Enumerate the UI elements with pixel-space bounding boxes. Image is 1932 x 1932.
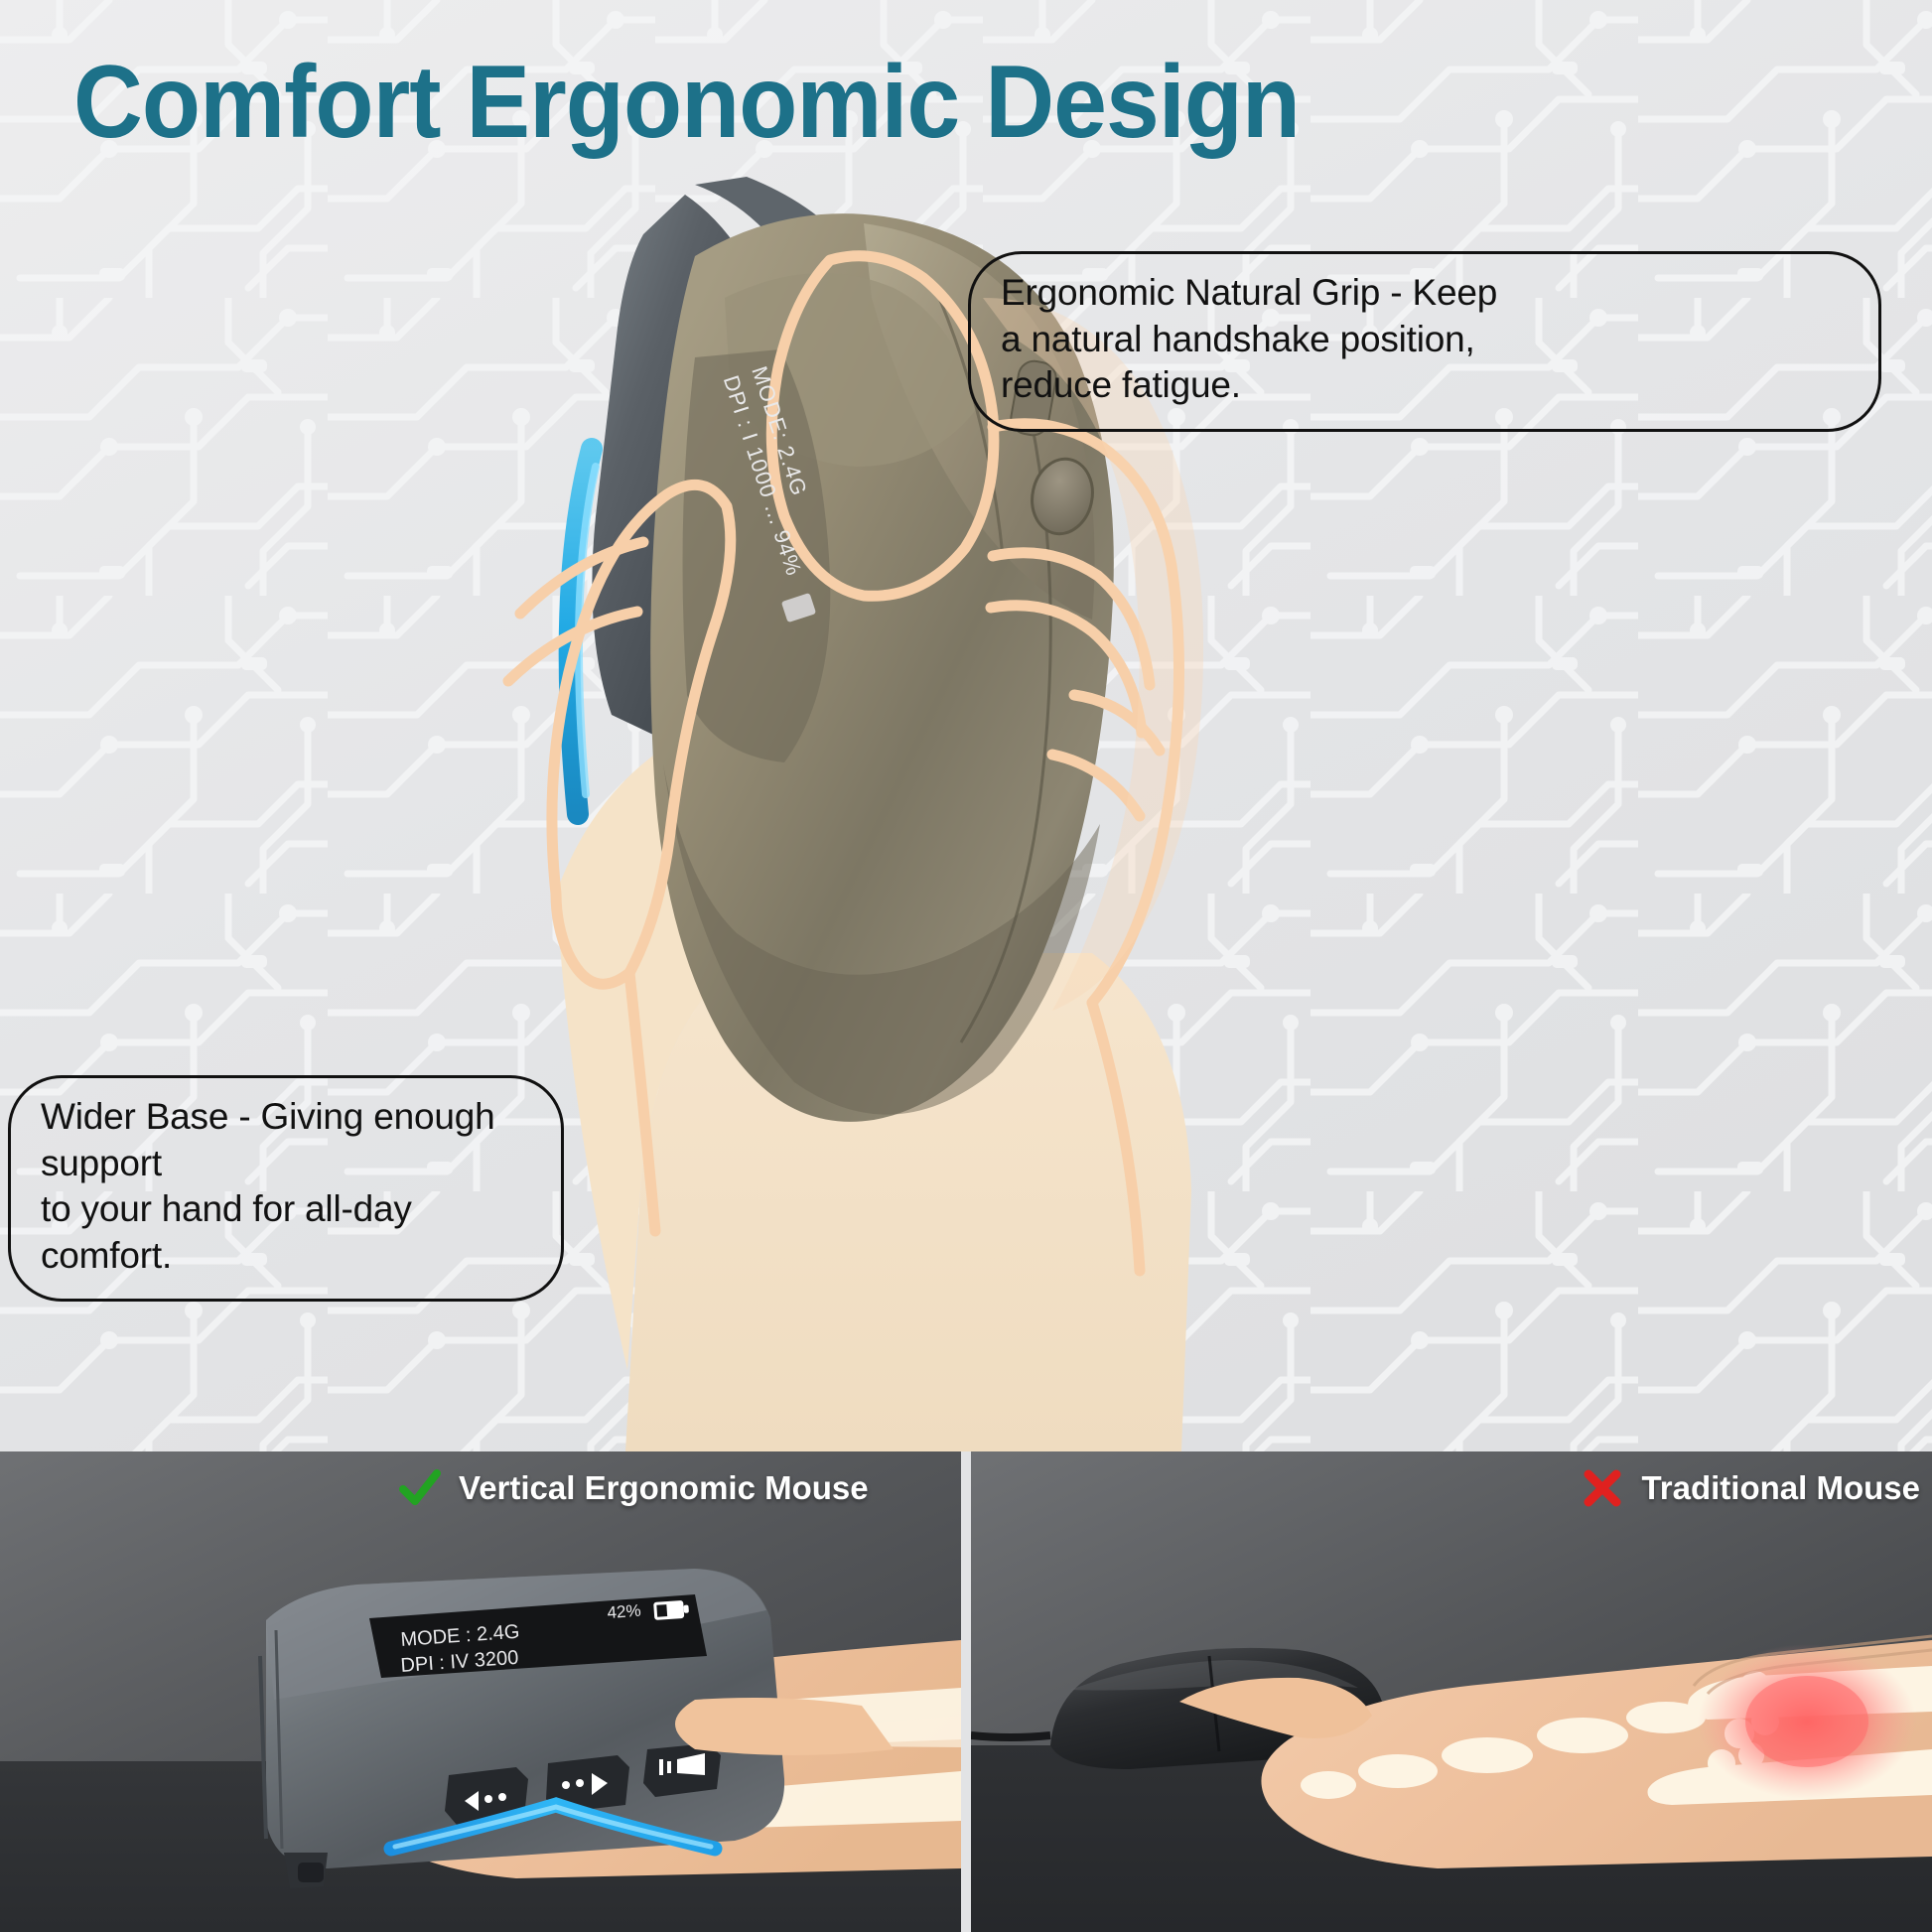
comparison-row: MODE : 2.4G DPI : IV 3200 42% (0, 1451, 1932, 1932)
callout-line: to your hand for all-day comfort. (41, 1186, 531, 1279)
product-infographic: MODE: 2.4G DPI : I 1000 ... 94% Comfort … (0, 0, 1932, 1932)
label-vertical-ergonomic-mouse: Vertical Ergonomic Mouse (397, 1465, 869, 1511)
hero-panel: MODE: 2.4G DPI : I 1000 ... 94% Comfort … (0, 0, 1932, 1451)
callout-line: reduce fatigue. (1001, 362, 1849, 409)
page-title: Comfort Ergonomic Design (73, 44, 1300, 162)
panel-vertical-ergonomic-mouse: MODE : 2.4G DPI : IV 3200 42% (0, 1451, 961, 1932)
label-traditional-mouse: Traditional Mouse (1580, 1465, 1920, 1511)
callout-line: Ergonomic Natural Grip - Keep (1001, 270, 1849, 317)
callout-wider-base: Wider Base - Giving enough support to yo… (8, 1075, 564, 1302)
traditional-mouse-photo (971, 1451, 1932, 1932)
check-mark-icon (397, 1465, 443, 1511)
panel-label-text: Vertical Ergonomic Mouse (459, 1469, 869, 1507)
callout-line: Wider Base - Giving enough support (41, 1094, 531, 1186)
panel-traditional-mouse: Traditional Mouse (971, 1451, 1932, 1932)
vertical-mouse-photo: MODE : 2.4G DPI : IV 3200 42% (0, 1451, 961, 1932)
cross-mark-icon (1580, 1465, 1625, 1511)
svg-text:42%: 42% (607, 1601, 641, 1622)
callout-line: a natural handshake position, (1001, 317, 1849, 363)
callout-ergonomic-grip: Ergonomic Natural Grip - Keep a natural … (968, 251, 1881, 432)
panel-label-text: Traditional Mouse (1641, 1469, 1920, 1507)
